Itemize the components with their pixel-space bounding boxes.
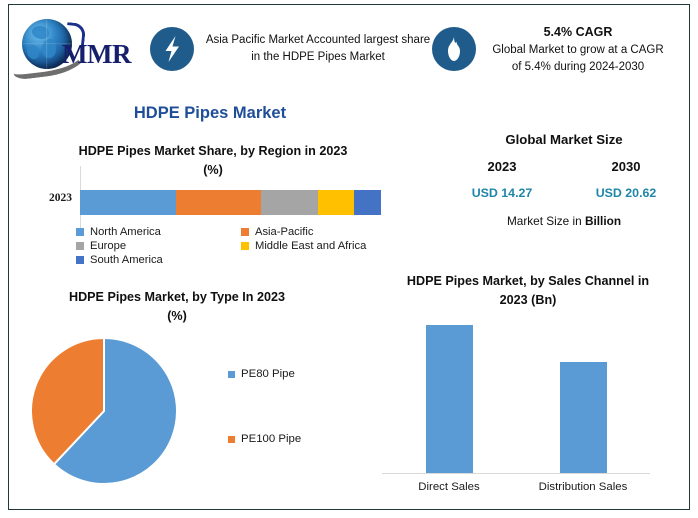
sales-channel-label-distribution: Distribution Sales [516, 481, 650, 493]
legend-label: Middle East and Africa [255, 240, 366, 252]
cagr-value: 5.4% CAGR [486, 23, 670, 41]
global-market-size-years: 2023 2030 [440, 159, 688, 174]
legend-swatch-icon [241, 242, 249, 250]
header-cagr-text: 5.4% CAGR Global Market to grow at a CAG… [486, 23, 670, 75]
sales-channel-bar[interactable] [426, 325, 473, 473]
market-size-year-2023: 2023 [440, 159, 564, 174]
legend-label: North America [90, 226, 161, 238]
legend-label: PE100 Pipe [241, 433, 301, 445]
legend-label: South America [90, 254, 163, 266]
brand-logo[interactable]: MMR [10, 13, 150, 85]
header-highlight-asia-pacific: Asia Pacific Market Accounted largest sh… [150, 27, 432, 71]
legend-label: PE80 Pipe [241, 368, 295, 380]
type-chart-title-line1: HDPE Pipes Market, by Type In 2023 [69, 290, 285, 304]
legend-label: Asia-Pacific [255, 226, 313, 238]
cagr-description: Global Market to grow at a CAGR of 5.4% … [492, 44, 663, 73]
sales-channel-bars[interactable] [382, 318, 650, 473]
legend-swatch-icon [76, 242, 84, 250]
sales-channel-column [382, 318, 516, 473]
global-market-size-values: USD 14.27 USD 20.62 [440, 186, 688, 200]
global-market-size-title: Global Market Size [440, 132, 688, 147]
sales-channel-label-direct: Direct Sales [382, 481, 516, 493]
global-market-size-panel: Global Market Size 2023 2030 USD 14.27 U… [440, 132, 688, 228]
type-chart-legend: PE80 Pipe PE100 Pipe [228, 368, 301, 445]
sales-channel-column [516, 318, 650, 473]
legend-swatch-icon [76, 256, 84, 264]
market-size-value-2023: USD 14.27 [440, 186, 564, 200]
region-stack-segment[interactable] [80, 190, 176, 215]
region-stack-segment[interactable] [354, 190, 381, 215]
region-stack-segment[interactable] [318, 190, 354, 215]
legend-swatch-icon [228, 436, 235, 443]
region-stack-segment[interactable] [261, 190, 318, 215]
market-size-unit-note: Market Size in Billion [440, 214, 688, 228]
pie-slices[interactable] [30, 337, 178, 485]
market-size-value-2030: USD 20.62 [564, 186, 688, 200]
lightning-bolt-icon [150, 27, 194, 71]
legend-swatch-icon [76, 228, 84, 236]
region-chart-legend: North America Asia-Pacific Europe Middle… [76, 226, 416, 268]
legend-item-pe100-pipe[interactable]: PE100 Pipe [228, 433, 301, 445]
sales-channel-chart-title-line2: 2023 (Bn) [500, 293, 557, 307]
region-stack-segment[interactable] [176, 190, 260, 215]
legend-swatch-icon [228, 371, 235, 378]
region-category-label: 2023 [26, 192, 72, 204]
infographic-root: MMR Asia Pacific Market Accounted larges… [0, 0, 698, 518]
sales-channel-bar[interactable] [560, 362, 607, 473]
header-highlight-cagr: 5.4% CAGR Global Market to grow at a CAG… [432, 23, 670, 75]
page-title: HDPE Pipes Market [0, 104, 420, 123]
type-chart-title: HDPE Pipes Market, by Type In 2023 (%) [12, 288, 342, 326]
region-chart-title-line1: HDPE Pipes Market Share, by Region in 20… [79, 144, 348, 158]
logo-text: MMR [62, 39, 131, 70]
market-size-unit-prefix: Market Size in [507, 214, 585, 228]
market-size-unit: Billion [585, 214, 621, 228]
type-chart-title-line2: (%) [167, 309, 187, 323]
sales-channel-chart-title-line1: HDPE Pipes Market, by Sales Channel in [407, 274, 649, 288]
sales-channel-chart-title: HDPE Pipes Market, by Sales Channel in 2… [378, 272, 678, 310]
legend-swatch-icon [241, 228, 249, 236]
legend-item-europe[interactable]: Europe [76, 240, 241, 252]
legend-item-pe80-pipe[interactable]: PE80 Pipe [228, 368, 301, 380]
flame-icon [432, 27, 476, 71]
sales-channel-category-labels: Direct Sales Distribution Sales [382, 481, 650, 493]
legend-item-south-america[interactable]: South America [76, 254, 241, 266]
header-bar: MMR Asia Pacific Market Accounted larges… [10, 6, 672, 92]
region-stacked-bar[interactable] [80, 190, 381, 215]
legend-item-asia-pacific[interactable]: Asia-Pacific [241, 226, 416, 238]
legend-label: Europe [90, 240, 126, 252]
legend-item-north-america[interactable]: North America [76, 226, 241, 238]
sales-channel-axis-line [382, 473, 650, 474]
market-size-year-2030: 2030 [564, 159, 688, 174]
header-highlight-text: Asia Pacific Market Accounted largest sh… [204, 32, 432, 65]
type-pie-chart[interactable] [30, 337, 178, 485]
legend-item-middle-east-and-africa[interactable]: Middle East and Africa [241, 240, 416, 252]
